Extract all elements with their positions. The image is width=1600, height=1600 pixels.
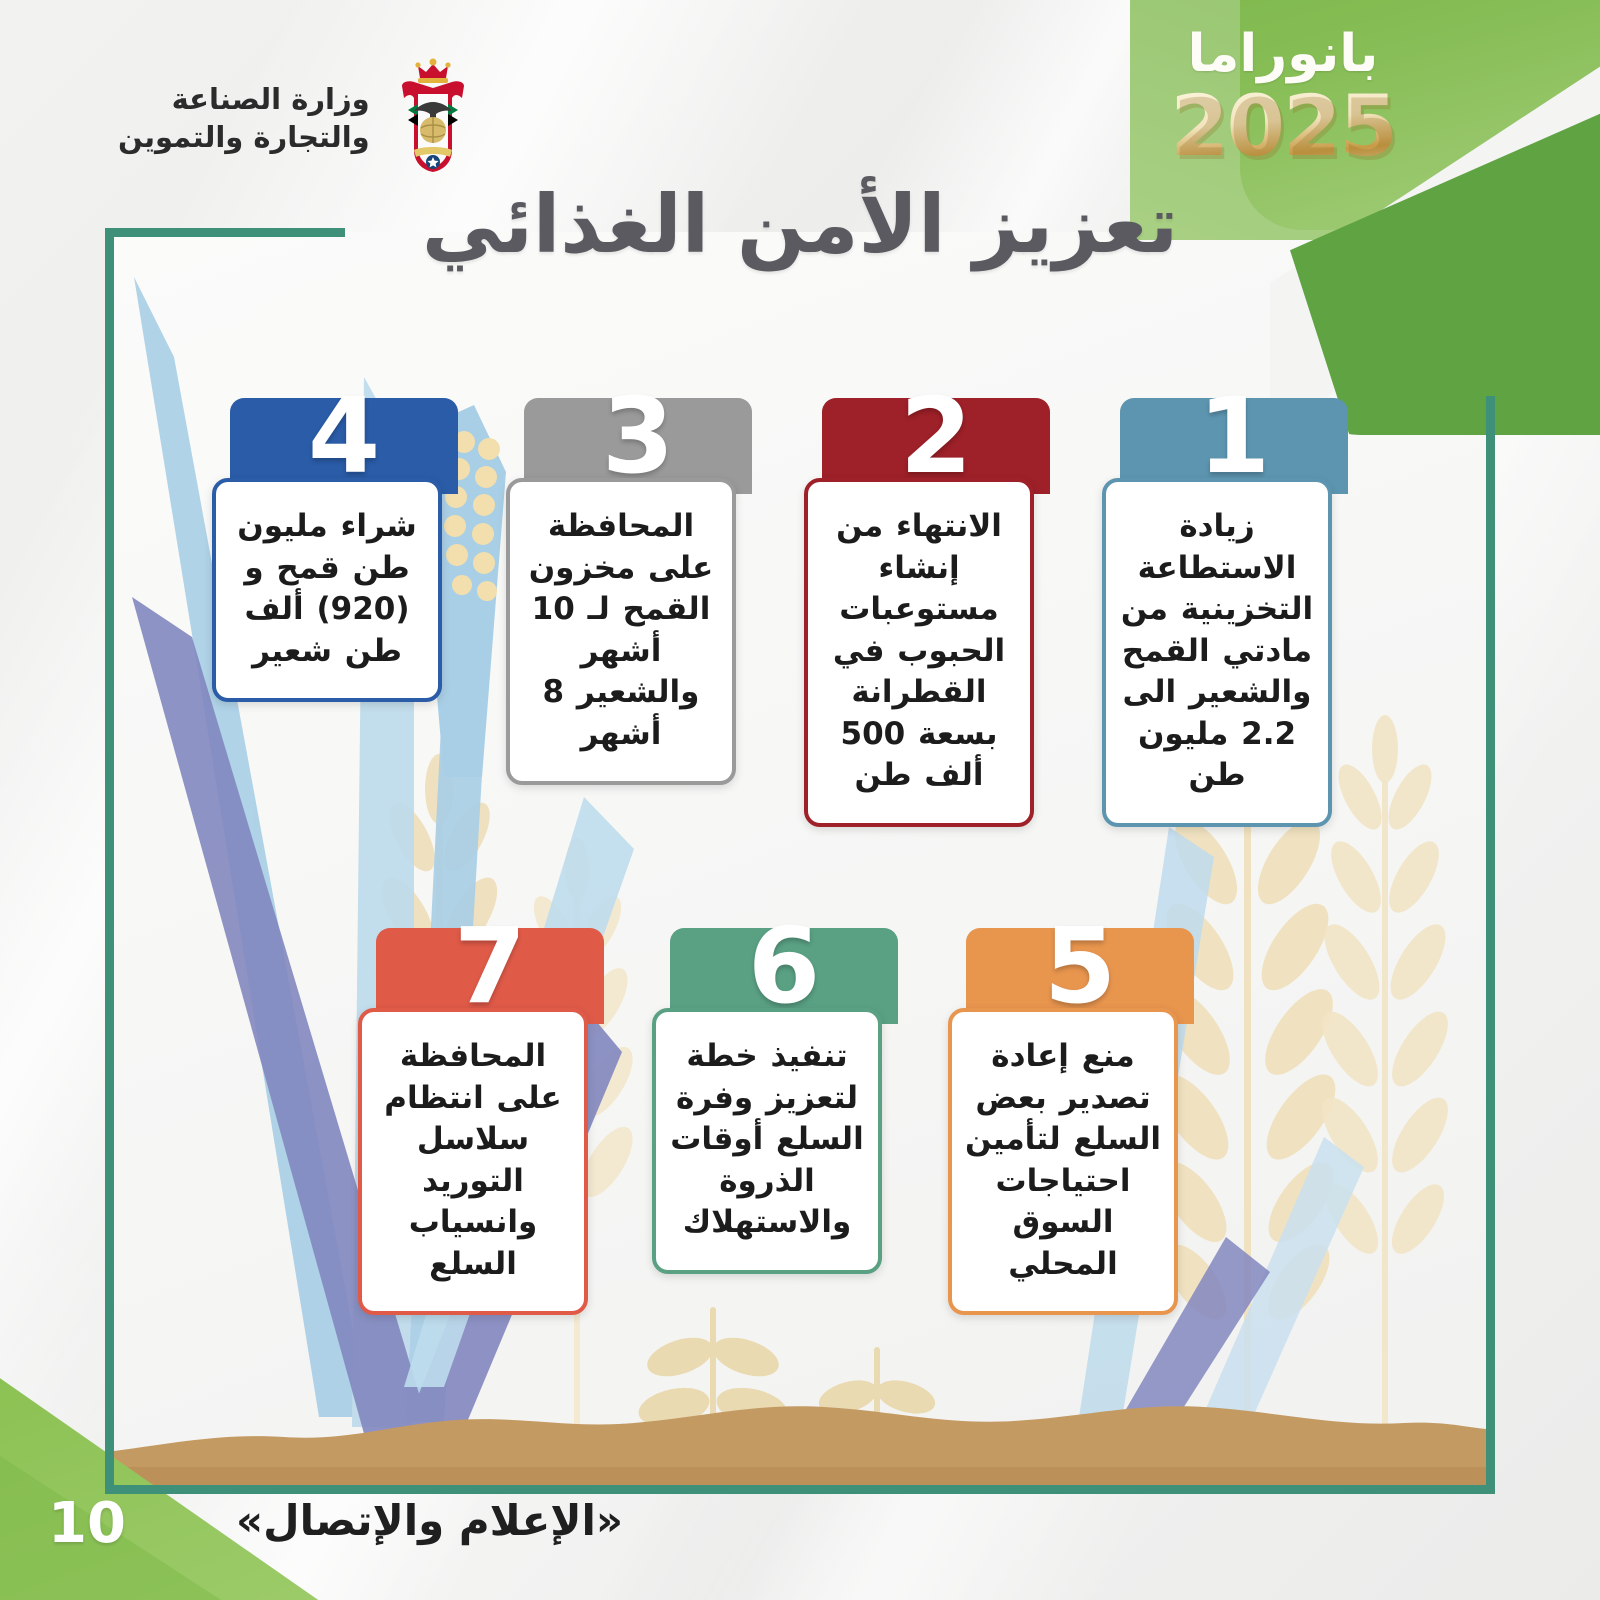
card-1-number: 1 — [1198, 384, 1270, 488]
card-1-body: زيادة الاستطاعة التخزينية من مادتي القمح… — [1102, 478, 1332, 827]
cards-grid: 1 زيادة الاستطاعة التخزينية من مادتي الق… — [0, 0, 1600, 1600]
card-6-text: تنفيذ خطة لتعزيز وفرة السلع أوقات الذروة… — [668, 1036, 866, 1244]
card-7-body: المحافظة على انتظام سلاسل التوريد وانسيا… — [358, 1008, 588, 1315]
card-2-text: الانتهاء من إنشاء مستوعبات الحبوب في الق… — [820, 506, 1018, 797]
infographic-page: بانوراما 2025 — [0, 0, 1600, 1600]
card-4-number: 4 — [308, 384, 380, 488]
card-3-text: المحافظة على مخزون القمح لـ 10 أشهر والش… — [522, 506, 720, 755]
card-1-text: زيادة الاستطاعة التخزينية من مادتي القمح… — [1118, 506, 1316, 797]
card-6-number: 6 — [748, 914, 820, 1018]
card-4-body: شراء مليون طن قمح و (920) ألف طن شعير — [212, 478, 442, 702]
card-4-text: شراء مليون طن قمح و (920) ألف طن شعير — [228, 506, 426, 672]
page-number: 10 — [48, 1496, 126, 1552]
card-3-number: 3 — [602, 384, 674, 488]
card-5-body: منع إعادة تصدير بعض السلع لتأمين احتياجا… — [948, 1008, 1178, 1315]
card-5-text: منع إعادة تصدير بعض السلع لتأمين احتياجا… — [964, 1036, 1162, 1285]
card-7-number: 7 — [454, 914, 526, 1018]
card-6-body: تنفيذ خطة لتعزيز وفرة السلع أوقات الذروة… — [652, 1008, 882, 1274]
card-5-number: 5 — [1044, 914, 1116, 1018]
card-3-body: المحافظة على مخزون القمح لـ 10 أشهر والش… — [506, 478, 736, 785]
card-2-number: 2 — [900, 384, 972, 488]
card-2-body: الانتهاء من إنشاء مستوعبات الحبوب في الق… — [804, 478, 1034, 827]
footer-department-label: «الإعلام والإتصال» — [236, 1500, 623, 1542]
card-7-text: المحافظة على انتظام سلاسل التوريد وانسيا… — [374, 1036, 572, 1285]
